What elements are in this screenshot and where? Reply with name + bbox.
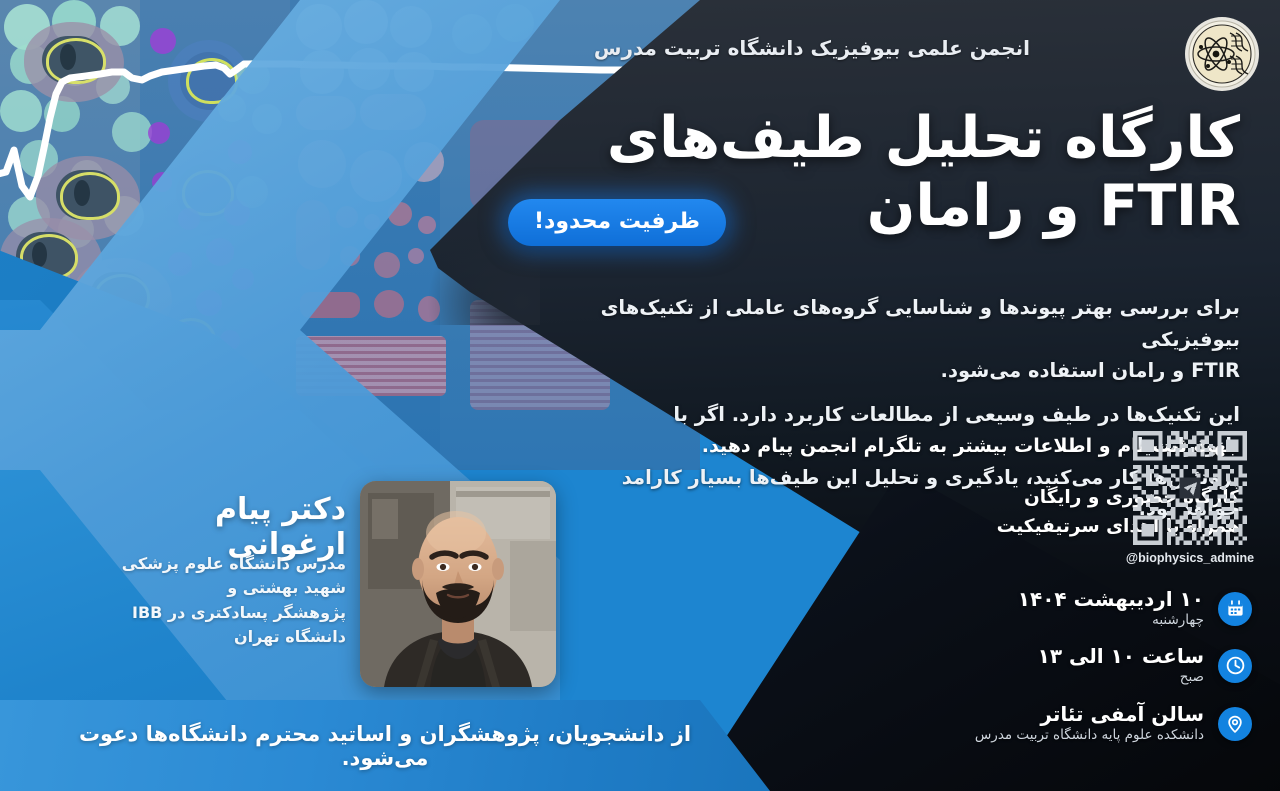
description-p1-l2: FTIR و رامان استفاده می‌شود. xyxy=(600,355,1240,387)
speaker-affiliation-line-1: مدرس دانشگاه علوم پزشکی xyxy=(96,552,346,576)
detail-row-date: ۱۰ اردیبهشت ۱۴۰۴ چهارشنبه xyxy=(1018,588,1252,629)
calendar-icon xyxy=(1218,592,1252,626)
clock-icon xyxy=(1218,649,1252,683)
speaker-affiliation-line-2: شهید بهشتی و xyxy=(96,576,346,600)
detail-row-time: ساعت ۱۰ الی ۱۳ صبح xyxy=(1038,645,1252,686)
detail-location-primary: سالن آمفی تئاتر xyxy=(975,703,1204,727)
organization-name: انجمن علمی بیوفیزیک دانشگاه تربیت مدرس xyxy=(594,36,1030,60)
detail-time-primary: ساعت ۱۰ الی ۱۳ xyxy=(1038,645,1204,669)
detail-row-location: سالن آمفی تئاتر دانشکده علوم پایه دانشگا… xyxy=(975,703,1252,744)
university-seal-logo xyxy=(1184,16,1260,92)
footer-invitation-text: از دانشجویان، پژوهشگران و اساتید محترم د… xyxy=(60,722,710,770)
speaker-portrait xyxy=(360,481,556,687)
speaker-affiliation-line-3: پژوهشگر پسادکتری در IBB xyxy=(96,601,346,625)
description-p1-l1: برای بررسی بهتر پیوندها و شناسایی گروه‌ه… xyxy=(600,292,1240,355)
speaker-affiliation: مدرس دانشگاه علوم پزشکی شهید بهشتی و پژو… xyxy=(96,552,346,649)
speaker-affiliation-line-4: دانشگاه تهران xyxy=(96,625,346,649)
detail-time-secondary: صبح xyxy=(1038,669,1204,687)
detail-date-secondary: چهارشنبه xyxy=(1018,612,1204,630)
telegram-qr-block[interactable]: @biophysics_admine xyxy=(1117,427,1263,565)
detail-location-secondary: دانشکده علوم پایه دانشگاه تربیت مدرس xyxy=(975,727,1204,745)
limited-capacity-badge: ظرفیت محدود! xyxy=(508,199,726,246)
title-line-1: کارگاه تحلیل طیف‌های xyxy=(520,104,1240,172)
location-pin-icon xyxy=(1218,707,1252,741)
workshop-poster: انجمن علمی بیوفیزیک دانشگاه تربیت مدرس xyxy=(0,0,1280,791)
detail-date-primary: ۱۰ اردیبهشت ۱۴۰۴ xyxy=(1018,588,1204,612)
qr-code-icon[interactable] xyxy=(1117,427,1263,549)
telegram-handle[interactable]: @biophysics_admine xyxy=(1117,551,1263,565)
